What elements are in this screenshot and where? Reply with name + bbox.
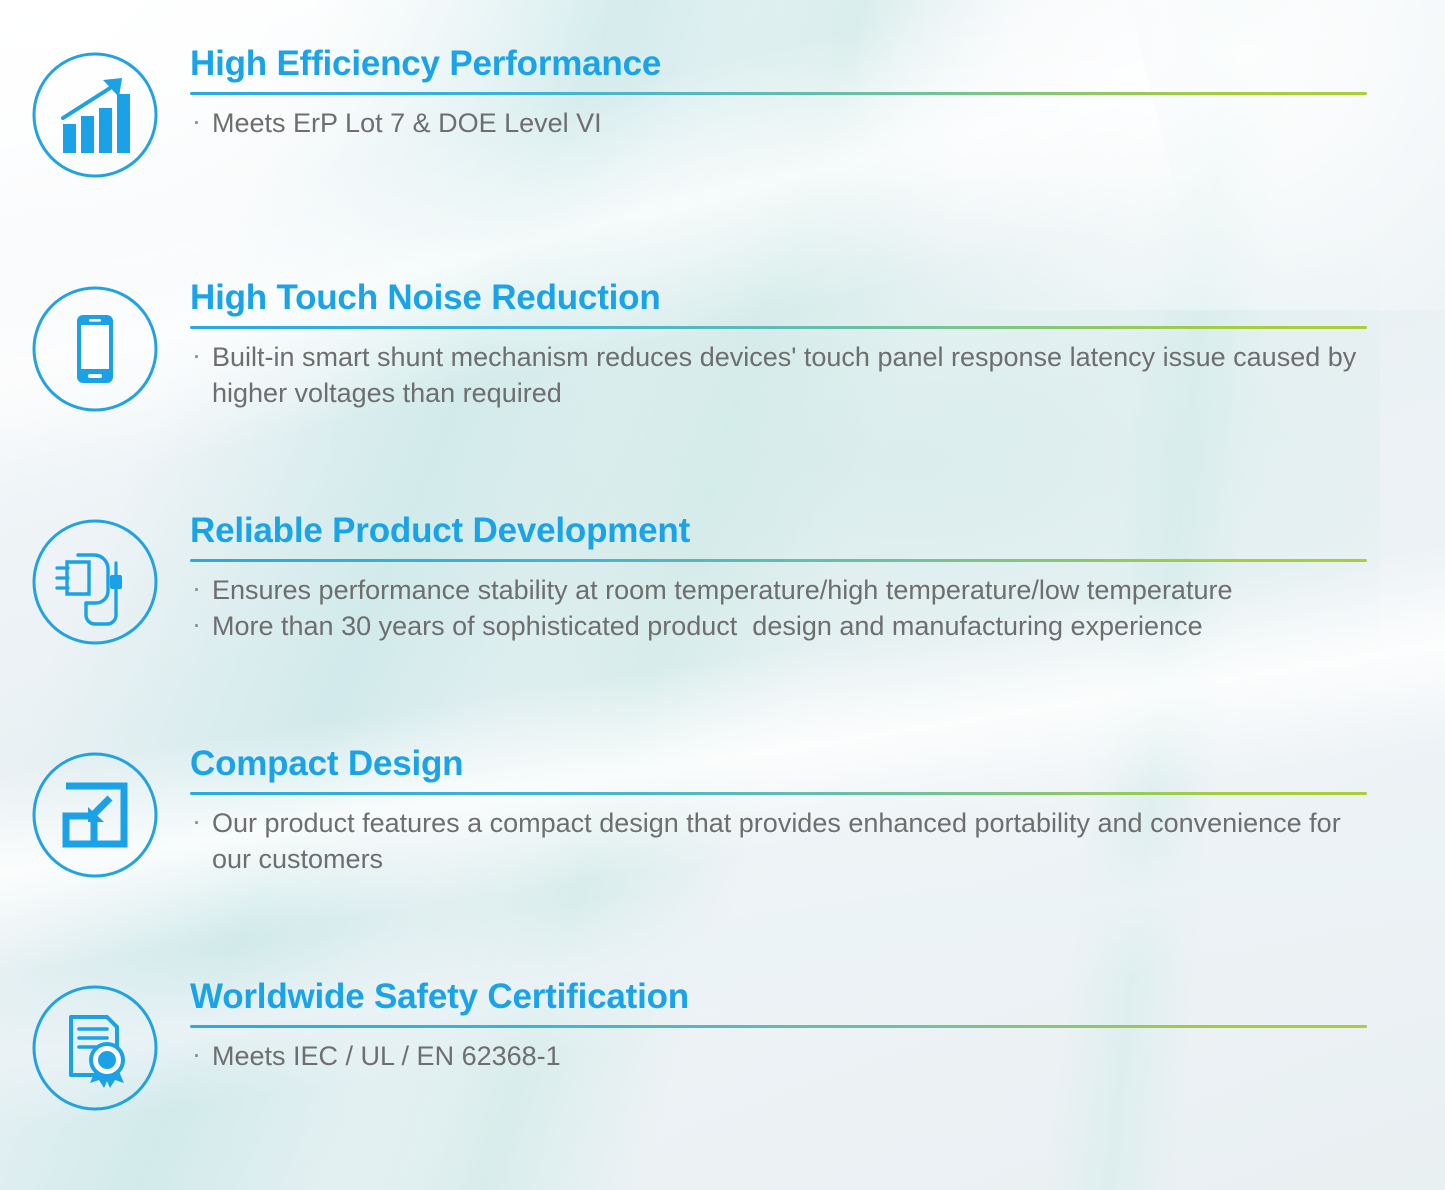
feature-icon-wrapper bbox=[0, 979, 190, 1113]
feature-title: Compact Design bbox=[190, 746, 1367, 792]
feature-bullet: Our product features a compact design th… bbox=[190, 806, 1367, 878]
feature-title: High Efficiency Performance bbox=[190, 46, 1367, 92]
feature-title: Reliable Product Development bbox=[190, 513, 1367, 559]
feature-bullet-list: Ensures performance stability at room te… bbox=[190, 573, 1367, 645]
feature-divider bbox=[190, 1025, 1367, 1028]
feature-item-high-efficiency-performance: High Efficiency Performance Meets ErP Lo… bbox=[0, 46, 1445, 180]
feature-title: Worldwide Safety Certification bbox=[190, 979, 1367, 1025]
feature-icon-wrapper bbox=[0, 746, 190, 880]
feature-body: Worldwide Safety Certification Meets IEC… bbox=[190, 979, 1445, 1075]
feature-divider bbox=[190, 792, 1367, 795]
features-list: High Efficiency Performance Meets ErP Lo… bbox=[0, 0, 1445, 1190]
feature-title: High Touch Noise Reduction bbox=[190, 280, 1367, 326]
feature-body: Reliable Product Development Ensures per… bbox=[190, 513, 1445, 645]
compact-resize-icon bbox=[30, 750, 160, 880]
power-adapter-icon bbox=[30, 517, 160, 647]
feature-item-compact-design: Compact Design Our product features a co… bbox=[0, 746, 1445, 880]
feature-body: High Touch Noise Reduction Built-in smar… bbox=[190, 280, 1445, 412]
feature-bullet-list: Meets ErP Lot 7 & DOE Level VI bbox=[190, 106, 1367, 142]
feature-icon-wrapper bbox=[0, 513, 190, 647]
feature-highlights-page: High Efficiency Performance Meets ErP Lo… bbox=[0, 0, 1445, 1190]
feature-bullet: Built-in smart shunt mechanism reduces d… bbox=[190, 340, 1367, 412]
certificate-award-icon bbox=[30, 983, 160, 1113]
feature-item-high-touch-noise-reduction: High Touch Noise Reduction Built-in smar… bbox=[0, 280, 1445, 414]
feature-bullet-list: Meets IEC / UL / EN 62368-1 bbox=[190, 1039, 1367, 1075]
feature-bullet: Meets IEC / UL / EN 62368-1 bbox=[190, 1039, 1367, 1075]
feature-bullet: More than 30 years of sophisticated prod… bbox=[190, 609, 1367, 645]
feature-bullet-list: Built-in smart shunt mechanism reduces d… bbox=[190, 340, 1367, 412]
feature-divider bbox=[190, 559, 1367, 562]
feature-item-worldwide-safety-certification: Worldwide Safety Certification Meets IEC… bbox=[0, 979, 1445, 1113]
feature-icon-wrapper bbox=[0, 46, 190, 180]
feature-divider bbox=[190, 326, 1367, 329]
smartphone-icon bbox=[30, 284, 160, 414]
feature-body: High Efficiency Performance Meets ErP Lo… bbox=[190, 46, 1445, 142]
feature-icon-wrapper bbox=[0, 280, 190, 414]
feature-divider bbox=[190, 92, 1367, 95]
bar-chart-growth-icon bbox=[30, 50, 160, 180]
feature-bullet: Ensures performance stability at room te… bbox=[190, 573, 1367, 609]
feature-bullet: Meets ErP Lot 7 & DOE Level VI bbox=[190, 106, 1367, 142]
feature-body: Compact Design Our product features a co… bbox=[190, 746, 1445, 878]
feature-item-reliable-product-development: Reliable Product Development Ensures per… bbox=[0, 513, 1445, 647]
feature-bullet-list: Our product features a compact design th… bbox=[190, 806, 1367, 878]
